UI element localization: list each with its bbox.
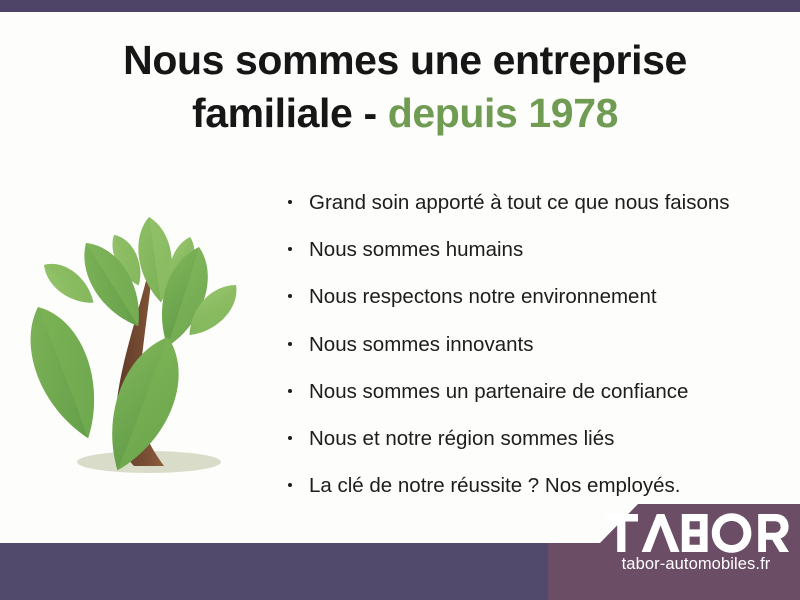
list-item: Nous sommes innovants	[286, 332, 756, 357]
list-item-label: Grand soin apporté à tout ce que nous fa…	[309, 191, 730, 214]
bullet-dot-icon	[288, 483, 292, 487]
list-item: La clé de notre réussite ? Nos employés.	[286, 473, 756, 498]
brand-logo[interactable]: tabor-automobiles.fr	[596, 512, 796, 574]
bullet-dot-icon	[288, 389, 292, 393]
list-item: Nous sommes un partenaire de confiance	[286, 379, 756, 404]
title-line-2-main: familiale -	[192, 90, 388, 136]
list-item: Nous sommes humains	[286, 237, 756, 262]
logo-tagline: tabor-automobiles.fr	[596, 555, 796, 574]
leaf-lower-left-large	[19, 298, 109, 447]
list-item-label: Nous sommes innovants	[309, 333, 533, 356]
list-item: Grand soin apporté à tout ce que nous fa…	[286, 190, 756, 215]
page-title: Nous sommes une entreprise familiale - d…	[60, 34, 750, 140]
tree-illustration	[18, 185, 278, 485]
tabor-wordmark-icon	[603, 512, 789, 554]
title-accent-since: depuis 1978	[388, 90, 618, 136]
title-line-1: Nous sommes une entreprise	[60, 34, 750, 87]
list-item-label: Nous sommes humains	[309, 238, 523, 261]
list-item-label: La clé de notre réussite ? Nos employés.	[309, 474, 680, 497]
bullet-dot-icon	[288, 294, 292, 298]
bullet-dot-icon	[288, 200, 292, 204]
list-item-label: Nous sommes un partenaire de confiance	[309, 380, 688, 403]
title-line-2: familiale - depuis 1978	[60, 87, 750, 140]
value-bullet-list: Grand soin apporté à tout ce que nous fa…	[286, 190, 756, 520]
list-item-label: Nous respectons notre environnement	[309, 285, 657, 308]
list-item: Nous respectons notre environnement	[286, 284, 756, 309]
slide-canvas: Nous sommes une entreprise familiale - d…	[0, 0, 800, 600]
bullet-dot-icon	[288, 247, 292, 251]
top-accent-band	[0, 0, 800, 12]
list-item: Nous et notre région sommes liés	[286, 426, 756, 451]
bullet-dot-icon	[288, 436, 292, 440]
list-item-label: Nous et notre région sommes liés	[309, 427, 614, 450]
bullet-dot-icon	[288, 342, 292, 346]
